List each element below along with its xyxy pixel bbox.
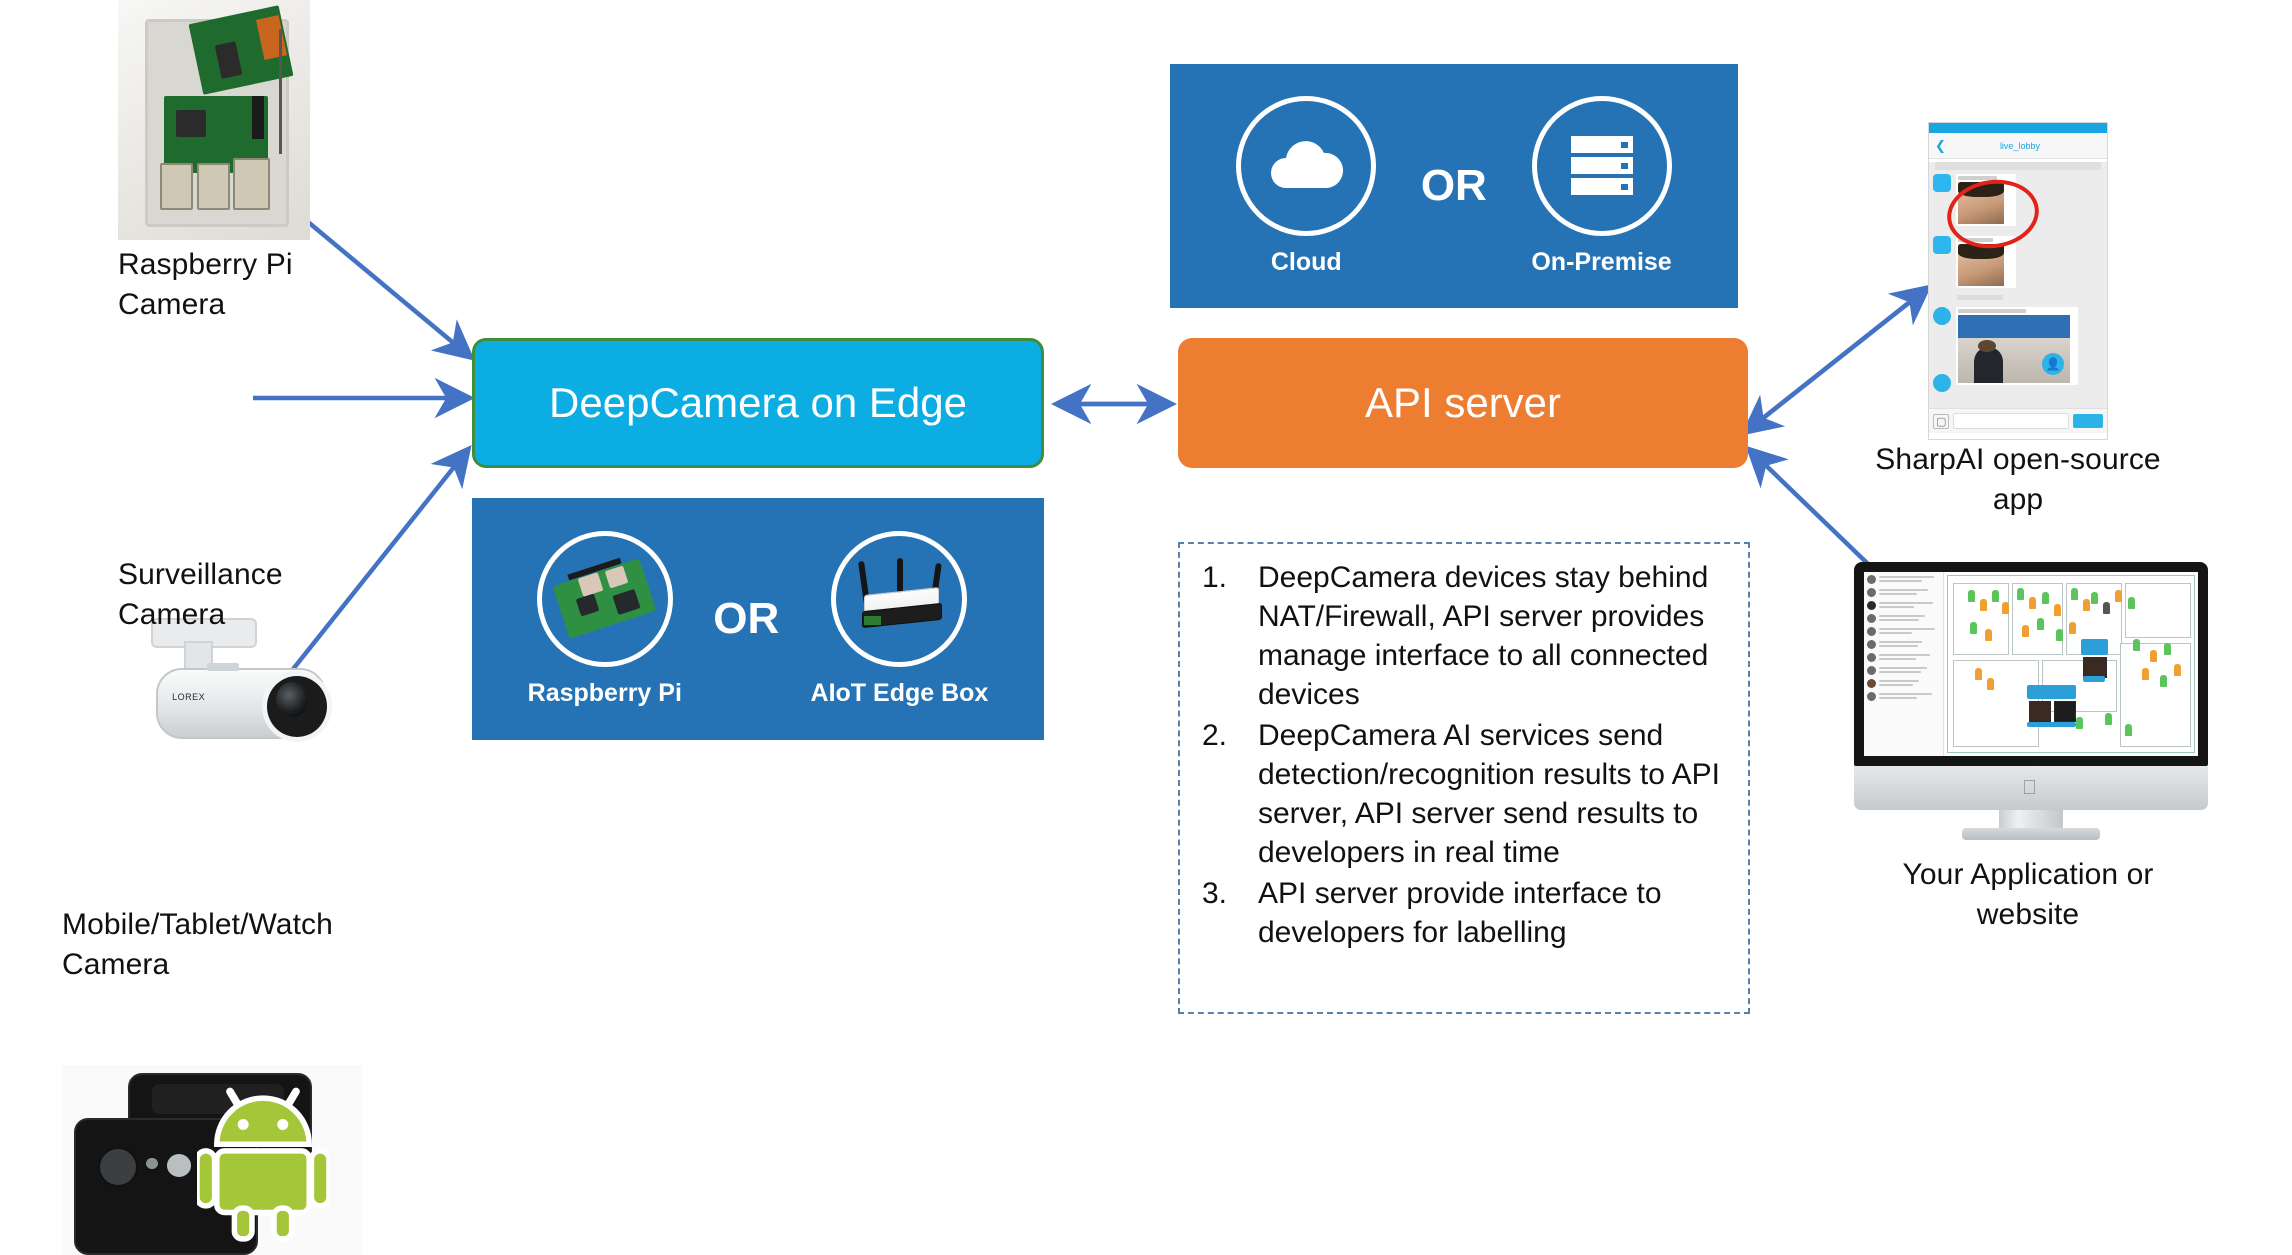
your-application-mockup[interactable]:  <box>1854 562 2208 842</box>
raspberry-pi-board-icon <box>542 536 668 662</box>
deepcamera-on-edge-label: DeepCamera on Edge <box>549 379 967 427</box>
floor-plan-map[interactable] <box>1947 575 2195 753</box>
app-send-button[interactable] <box>2073 414 2103 428</box>
android-robot-icon <box>197 1075 329 1242</box>
app-nav-bar: ❮ live_lobby <box>1929 133 2107 159</box>
arrow-api-to-app <box>1748 290 1925 430</box>
mobile-camera-photo <box>62 1065 362 1255</box>
note-number: 1. <box>1202 558 1258 714</box>
list-item[interactable] <box>1867 679 1940 688</box>
chevron-left-icon[interactable]: ❮ <box>1935 138 1946 154</box>
app-avatar <box>1933 374 1951 392</box>
aiot-edge-box-icon <box>836 536 962 662</box>
imac-stand-foot <box>1962 828 2100 840</box>
edge-hardware-panel: Raspberry Pi OR AIoT Edge Box <box>472 498 1044 740</box>
edge-option-aiot-edge-box[interactable]: AIoT Edge Box <box>811 531 989 708</box>
note-item: 1. DeepCamera devices stay behind NAT/Fi… <box>1202 558 1730 714</box>
apple-logo-icon:  <box>2022 778 2040 798</box>
deployment-option-on-premise[interactable]: On-Premise <box>1531 96 1671 277</box>
raspberry-pi-camera-photo <box>118 0 310 240</box>
detected-face-thumbnail <box>1958 244 2004 286</box>
dashboard-sidebar[interactable] <box>1864 572 1944 756</box>
note-item: 3. API server provide interface to devel… <box>1202 874 1730 952</box>
server-rack-icon <box>1567 133 1637 199</box>
mobile-camera-label: Mobile/Tablet/Watch Camera <box>62 905 482 985</box>
app-message-list[interactable]: 👤 <box>1929 162 2107 408</box>
deployment-panel: Cloud OR On-Premise <box>1170 64 1738 308</box>
sharpai-app-label-text: SharpAI open-source app <box>1875 443 2160 516</box>
deployment-option-on-premise-label: On-Premise <box>1531 248 1671 277</box>
app-avatar <box>1933 236 1951 254</box>
mobile-label-line2: Camera <box>62 945 482 985</box>
rpi-label-line1: Raspberry Pi <box>118 245 378 285</box>
surveillance-label-line2: Camera <box>118 595 398 635</box>
phone-status-bar <box>1929 123 2107 133</box>
raspberry-pi-camera-label: Raspberry Pi Camera <box>118 245 378 325</box>
dashboard-screen[interactable] <box>1864 572 2198 756</box>
imac-chin:  <box>1854 766 2208 810</box>
edge-option-raspberry-pi-label: Raspberry Pi <box>528 679 682 708</box>
sharpai-app-label: SharpAI open-source app <box>1848 440 2188 520</box>
list-item[interactable] <box>1867 653 1940 662</box>
your-application-label: Your Application or website <box>1848 855 2208 935</box>
surveillance-label-line1: Surveillance <box>118 555 398 595</box>
list-item[interactable] <box>1867 614 1940 623</box>
note-text: API server provide interface to develope… <box>1258 874 1730 952</box>
note-text: DeepCamera devices stay behind NAT/Firew… <box>1258 558 1730 714</box>
edge-option-aiot-edge-box-label: AIoT Edge Box <box>811 679 989 708</box>
surveillance-camera-label: Surveillance Camera <box>118 555 398 635</box>
rpi-label-line2: Camera <box>118 285 378 325</box>
edge-option-raspberry-pi[interactable]: Raspberry Pi <box>528 531 682 708</box>
list-item[interactable] <box>1867 588 1940 597</box>
app-avatar <box>1933 307 1951 325</box>
camera-brand: LOREX <box>172 692 205 702</box>
list-item[interactable] <box>1867 692 1940 701</box>
image-icon[interactable]: ▢ <box>1933 414 1949 429</box>
note-text: DeepCamera AI services send detection/re… <box>1258 716 1730 872</box>
note-item: 2. DeepCamera AI services send detection… <box>1202 716 1730 872</box>
list-item[interactable] <box>1867 575 1940 584</box>
note-number: 3. <box>1202 874 1258 952</box>
deployment-or-label: OR <box>1421 161 1487 211</box>
deployment-option-cloud-label: Cloud <box>1271 248 1342 277</box>
note-number: 2. <box>1202 716 1258 872</box>
cloud-icon <box>1267 138 1345 194</box>
diagram-canvas: Raspberry Pi Camera LOREX Surveillance C… <box>0 0 2292 1062</box>
mobile-label-line1: Mobile/Tablet/Watch <box>62 905 482 945</box>
app-message-input[interactable] <box>1953 413 2069 429</box>
list-item[interactable] <box>1867 666 1940 675</box>
app-chat-title: live_lobby <box>1952 141 2088 151</box>
app-message-row[interactable]: 👤 <box>1929 303 2107 385</box>
api-server-label: API server <box>1365 379 1561 427</box>
sharpai-app-mockup[interactable]: ❮ live_lobby <box>1928 122 2108 440</box>
app-snapshot-card[interactable]: 👤 <box>1956 307 2078 385</box>
edge-or-label: OR <box>713 594 779 644</box>
deployment-option-cloud[interactable]: Cloud <box>1236 96 1376 277</box>
app-input-bar[interactable]: ▢ <box>1929 408 2107 433</box>
notes-panel: 1. DeepCamera devices stay behind NAT/Fi… <box>1178 542 1750 1014</box>
deepcamera-on-edge-box[interactable]: DeepCamera on Edge <box>472 338 1044 468</box>
list-item[interactable] <box>1867 640 1940 649</box>
person-icon: 👤 <box>2042 353 2064 375</box>
your-application-label-text: Your Application or website <box>1903 858 2154 931</box>
app-avatar <box>1933 174 1951 192</box>
surveillance-camera-photo: LOREX <box>110 615 340 775</box>
list-item[interactable] <box>1867 601 1940 610</box>
list-item[interactable] <box>1867 627 1940 636</box>
api-server-box[interactable]: API server <box>1178 338 1748 468</box>
arrow-app-to-api <box>1748 290 1925 430</box>
camera-snapshot: 👤 <box>1958 315 2070 383</box>
